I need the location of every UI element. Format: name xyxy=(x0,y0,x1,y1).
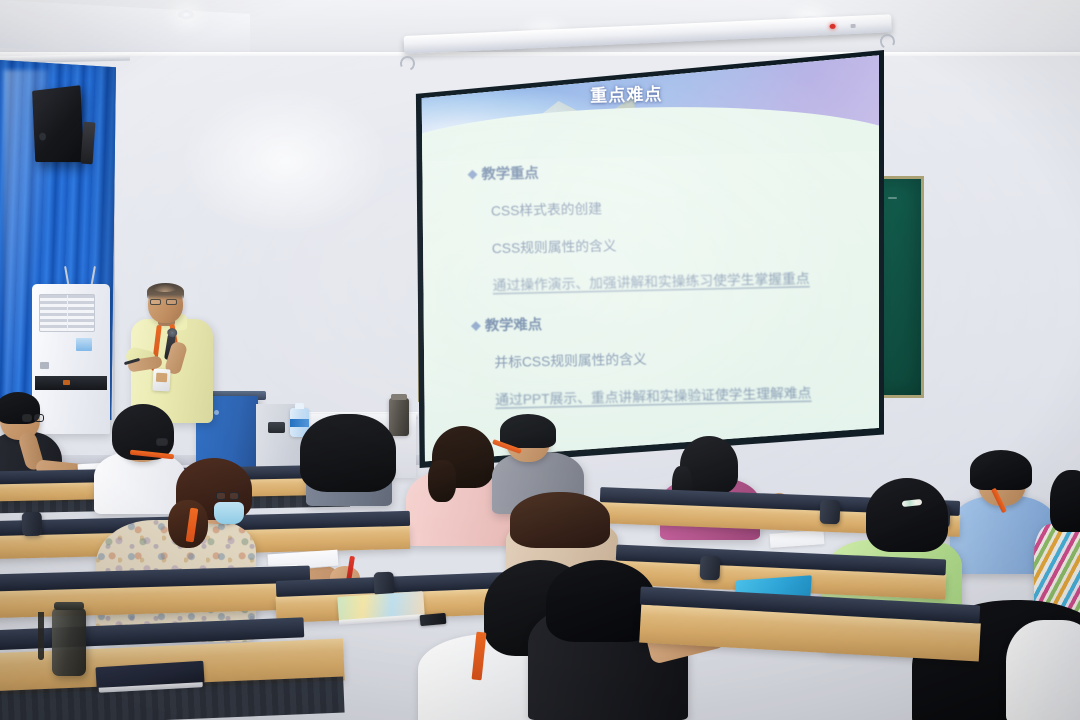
glasses-icon xyxy=(22,414,46,422)
diamond-bullet-icon: ❖ xyxy=(467,167,479,182)
student-hair xyxy=(1050,470,1080,532)
student-ponytail xyxy=(428,460,456,502)
thermos-cup-icon xyxy=(389,398,409,436)
id-badge xyxy=(152,369,170,392)
air-conditioner-icon xyxy=(32,284,110,434)
papers xyxy=(770,530,825,548)
student-hair xyxy=(510,492,610,548)
glasses-icon xyxy=(152,438,170,446)
chalk-mark xyxy=(888,197,897,199)
slide-bullet-line: 并标CSS规则属性的含义 xyxy=(494,343,879,372)
ac-display-panel xyxy=(35,376,107,390)
face-mask-icon xyxy=(214,502,244,524)
tumbler-bottle-icon xyxy=(52,608,86,676)
colorful-booklet-icon xyxy=(337,591,424,621)
ac-energy-label xyxy=(76,338,92,351)
slide-heading-key-points: ❖教学重点 xyxy=(467,153,879,184)
instructor-hair xyxy=(147,283,184,300)
slide-main-title: 重点难点 xyxy=(590,80,663,107)
slide-bullet-line: CSS样式表的创建 xyxy=(491,191,879,220)
powerpoint-slide: （一）教学分析 重点难点 ❖教学重点 CSS样式表的创建 CSS规则属性的含义 … xyxy=(419,54,879,463)
projection-screen[interactable]: （一）教学分析 重点难点 ❖教学重点 CSS样式表的创建 CSS规则属性的含义 … xyxy=(419,54,879,463)
slide-bullet-line: CSS规则属性的含义 xyxy=(492,228,879,257)
classroom-photo: （一）教学分析 重点难点 ❖教学重点 CSS样式表的创建 CSS规则属性的含义 … xyxy=(0,0,1080,720)
wall-light-reflection xyxy=(180,86,390,236)
desk-knob xyxy=(22,512,43,537)
student-torso xyxy=(1006,620,1080,720)
glasses-icon xyxy=(216,492,242,500)
desk-knob xyxy=(820,500,841,525)
slide-heading-text: 教学重点 xyxy=(481,165,539,182)
student-hair xyxy=(970,450,1032,490)
slide-bullet-line: 通过PPT展示、重点讲解和实操验证使学生理解难点 xyxy=(495,380,879,409)
wall-speaker-icon xyxy=(32,85,84,162)
power-indicator-led xyxy=(829,24,835,29)
student-hair xyxy=(500,414,556,448)
wall-socket-icon xyxy=(268,422,285,433)
diamond-bullet-icon: ❖ xyxy=(470,319,482,334)
slide-bullet-line: 通过操作演示、加强讲解和实操练习使学生掌握重点 xyxy=(492,265,879,294)
student-hair xyxy=(866,478,948,552)
smartphone-icon xyxy=(420,613,447,626)
student-hair xyxy=(300,414,396,492)
slide-body: ❖教学重点 CSS样式表的创建 CSS规则属性的含义 通过操作演示、加强讲解和实… xyxy=(419,134,879,411)
bottle-label xyxy=(290,419,309,427)
slide-heading-difficult-points: ❖教学难点 xyxy=(470,304,879,335)
glasses-icon xyxy=(150,299,180,305)
slide-heading-text: 教学难点 xyxy=(485,317,543,334)
bottle-strap xyxy=(38,612,44,660)
desk-knob xyxy=(700,556,721,581)
screen-control-button[interactable] xyxy=(851,24,856,28)
ac-vent-grille xyxy=(39,294,95,332)
ceiling-downlight xyxy=(178,10,194,19)
ac-brand-logo xyxy=(40,362,49,369)
